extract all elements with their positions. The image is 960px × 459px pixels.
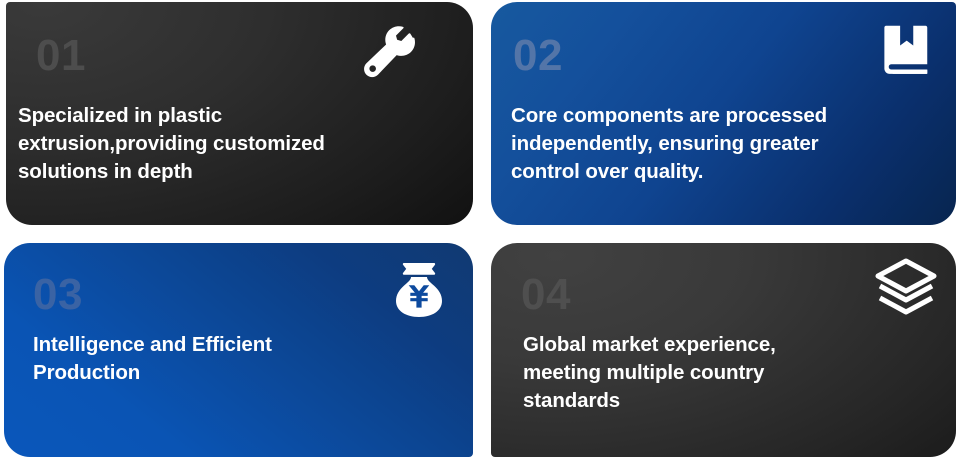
card-number: 04 [521,273,571,317]
card-content: 02 Core components are processed indepen… [491,2,956,225]
card-number: 03 [33,273,83,317]
card-headline: Core components are processed independen… [511,102,955,186]
book-bookmark-icon [880,24,936,80]
wrench-icon [359,26,417,84]
card-headline: Specialized in plastic extrusion,providi… [18,102,458,186]
card-number: 02 [513,34,563,78]
card-number: 01 [36,34,86,78]
card-content: 03 Intelligence and Efficient Production [4,243,473,457]
layers-stack-icon [872,257,940,319]
money-bag-yen-icon [387,257,451,321]
card-content: 04 Global market experience, meeting mul… [491,243,956,457]
card-content: 01 Specialized in plastic extrusion,prov… [6,2,473,225]
feature-card-01[interactable]: 01 Specialized in plastic extrusion,prov… [6,2,473,225]
card-headline: Intelligence and Efficient Production [33,331,453,387]
feature-card-02[interactable]: 02 Core components are processed indepen… [491,2,956,225]
feature-card-03[interactable]: 03 Intelligence and Efficient Production [4,243,473,457]
feature-card-04[interactable]: 04 Global market experience, meeting mul… [491,243,956,457]
card-headline: Global market experience, meeting multip… [523,331,943,415]
feature-card-grid: 01 Specialized in plastic extrusion,prov… [0,0,960,459]
